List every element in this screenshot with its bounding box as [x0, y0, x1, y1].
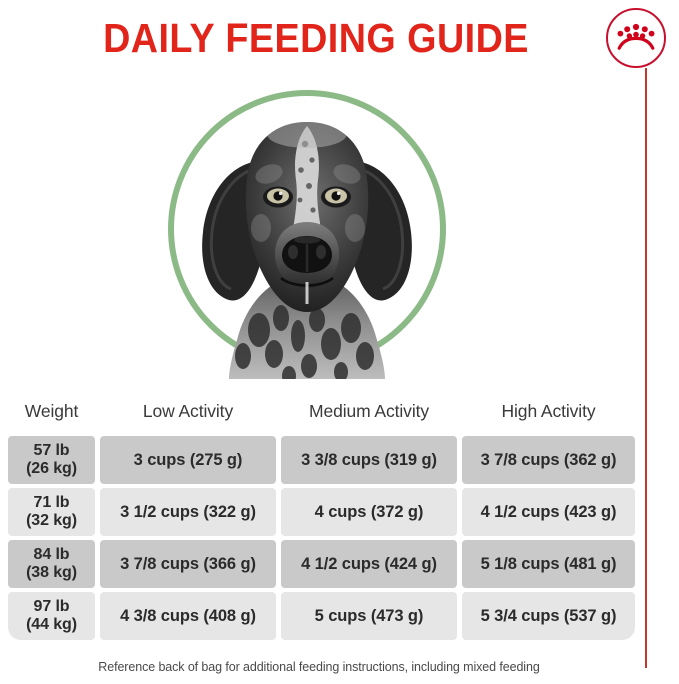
cell-low-activity: 3 7/8 cups (366 g) — [100, 540, 276, 588]
cell-medium-activity: 5 cups (473 g) — [281, 592, 457, 640]
daily-feeding-table: Weight Low Activity Medium Activity High… — [8, 392, 630, 644]
german-shorthaired-pointer-portrait — [181, 104, 433, 379]
cell-low-activity: 3 1/2 cups (322 g) — [100, 488, 276, 536]
table-row: 97 lb (44 kg) 4 3/8 cups (408 g) 5 cups … — [8, 592, 630, 640]
table-header-row: Weight Low Activity Medium Activity High… — [8, 392, 630, 432]
cell-high-activity: 4 1/2 cups (423 g) — [462, 488, 635, 536]
column-header-high-activity: High Activity — [462, 392, 635, 432]
table-row: 84 lb (38 kg) 3 7/8 cups (366 g) 4 1/2 c… — [8, 540, 630, 588]
brand-stem-line — [645, 68, 647, 668]
cell-medium-activity: 4 1/2 cups (424 g) — [281, 540, 457, 588]
cell-high-activity: 3 7/8 cups (362 g) — [462, 436, 635, 484]
column-header-low-activity: Low Activity — [100, 392, 276, 432]
column-header-medium-activity: Medium Activity — [281, 392, 457, 432]
table-row: 71 lb (32 kg) 3 1/2 cups (322 g) 4 cups … — [8, 488, 630, 536]
hero-image-container — [168, 90, 446, 368]
footnote-text: Reference back of bag for additional fee… — [8, 660, 630, 674]
brand-logo — [606, 8, 666, 68]
cell-low-activity: 4 3/8 cups (408 g) — [100, 592, 276, 640]
cell-weight: 57 lb (26 kg) — [8, 436, 95, 484]
cell-medium-activity: 3 3/8 cups (319 g) — [281, 436, 457, 484]
cell-medium-activity: 4 cups (372 g) — [281, 488, 457, 536]
cell-high-activity: 5 1/8 cups (481 g) — [462, 540, 635, 588]
cell-low-activity: 3 cups (275 g) — [100, 436, 276, 484]
column-header-weight: Weight — [8, 392, 95, 432]
table-row: 57 lb (26 kg) 3 cups (275 g) 3 3/8 cups … — [8, 436, 630, 484]
cell-weight: 84 lb (38 kg) — [8, 540, 95, 588]
crown-icon — [617, 23, 655, 51]
cell-high-activity: 5 3/4 cups (537 g) — [462, 592, 635, 640]
cell-weight: 97 lb (44 kg) — [8, 592, 95, 640]
page-title: DAILY FEEDING GUIDE — [25, 18, 606, 59]
cell-weight: 71 lb (32 kg) — [8, 488, 95, 536]
